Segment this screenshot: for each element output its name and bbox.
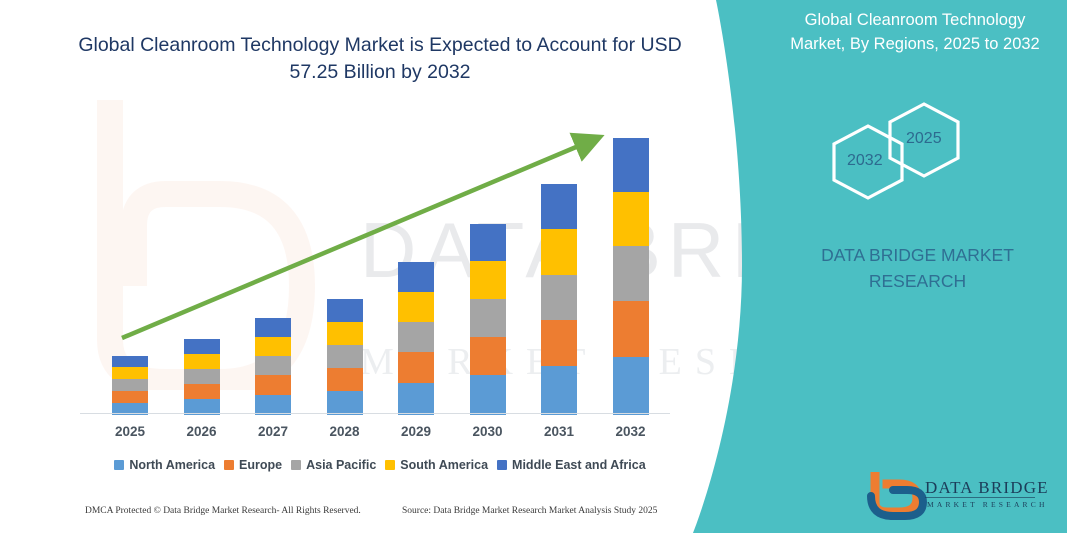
hexagon-group: 2025 2032 [820,100,1000,210]
infographic-root: DATA BRIDGE MARKET RESEARCH Global Clean… [0,0,1067,533]
hexagon-2025-label: 2025 [906,130,942,148]
hexagon-2032-label: 2032 [847,152,883,170]
logo-subtitle: MARKET RESEARCH [927,500,1048,509]
right-panel-title: Global Cleanroom Technology Market, By R… [775,8,1055,56]
right-panel-brand-line1: DATA BRIDGE MARKET [790,242,1045,268]
right-panel-brand-line2: RESEARCH [790,268,1045,294]
logo-divider [925,497,1035,498]
right-panel-brand: DATA BRIDGE MARKET RESEARCH [790,242,1045,294]
logo-title: DATA BRIDGE [925,478,1049,498]
